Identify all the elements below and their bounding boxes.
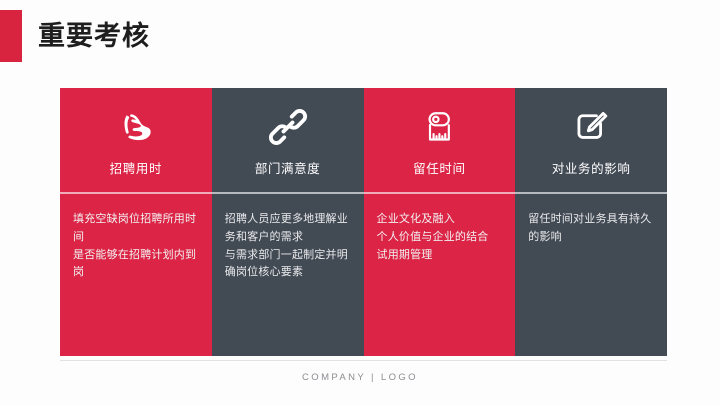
card-body-text: 留任时间对业务具有持久的影响 [528,211,654,247]
card-label: 招聘用时 [110,163,162,176]
card-header: 部门满意度 [212,88,364,192]
card-label: 部门满意度 [255,163,321,176]
metric-card-retention-time[interactable]: 留任时间 企业文化及融入 个人价值与企业的结合 试用期管理 [364,88,516,356]
card-body: 填充空缺岗位招聘所用时间 是否能够在招聘计划内到岗 [60,194,212,356]
page-title: 重要考核 [38,23,150,50]
card-header: 对业务的影响 [515,88,667,192]
metric-card-row: 招聘用时 填充空缺岗位招聘所用时间 是否能够在招聘计划内到岗 [60,88,667,356]
metric-card-business-impact[interactable]: 对业务的影响 留任时间对业务具有持久的影响 [515,88,667,356]
slide-canvas: 重要考核 招聘用时 填充空缺岗位招聘所用时间 是否能够在招聘计划内到岗 [0,0,720,405]
card-body: 留任时间对业务具有持久的影响 [515,194,667,356]
footer-branding: COMPANY | LOGO [0,372,720,383]
slide-title-row: 重要考核 [0,10,150,62]
card-body: 企业文化及融入 个人价值与企业的结合 试用期管理 [364,194,516,356]
chain-link-icon [268,104,308,150]
card-body: 招聘人员应更多地理解业务和客户的需求 与需求部门一起制定并明确岗位核心要素 [212,194,364,356]
title-accent-bar [0,10,22,62]
footer-divider [60,360,667,361]
edit-pencil-square-icon [571,104,611,150]
card-body-text: 填充空缺岗位招聘所用时间 是否能够在招聘计划内到岗 [73,211,199,282]
metric-card-department-satisfaction[interactable]: 部门满意度 招聘人员应更多地理解业务和客户的需求 与需求部门一起制定并明确岗位核… [212,88,364,356]
card-label: 对业务的影响 [552,163,631,176]
card-label: 留任时间 [413,163,465,176]
measuring-tape-icon [419,104,459,150]
card-body-text: 招聘人员应更多地理解业务和客户的需求 与需求部门一起制定并明确岗位核心要素 [225,211,351,282]
metric-card-recruiting-time[interactable]: 招聘用时 填充空缺岗位招聘所用时间 是否能够在招聘计划内到岗 [60,88,212,356]
card-body-text: 企业文化及融入 个人价值与企业的结合 试用期管理 [377,211,503,264]
card-header: 招聘用时 [60,88,212,192]
card-header: 留任时间 [364,88,516,192]
flexed-bicep-icon [116,104,156,150]
